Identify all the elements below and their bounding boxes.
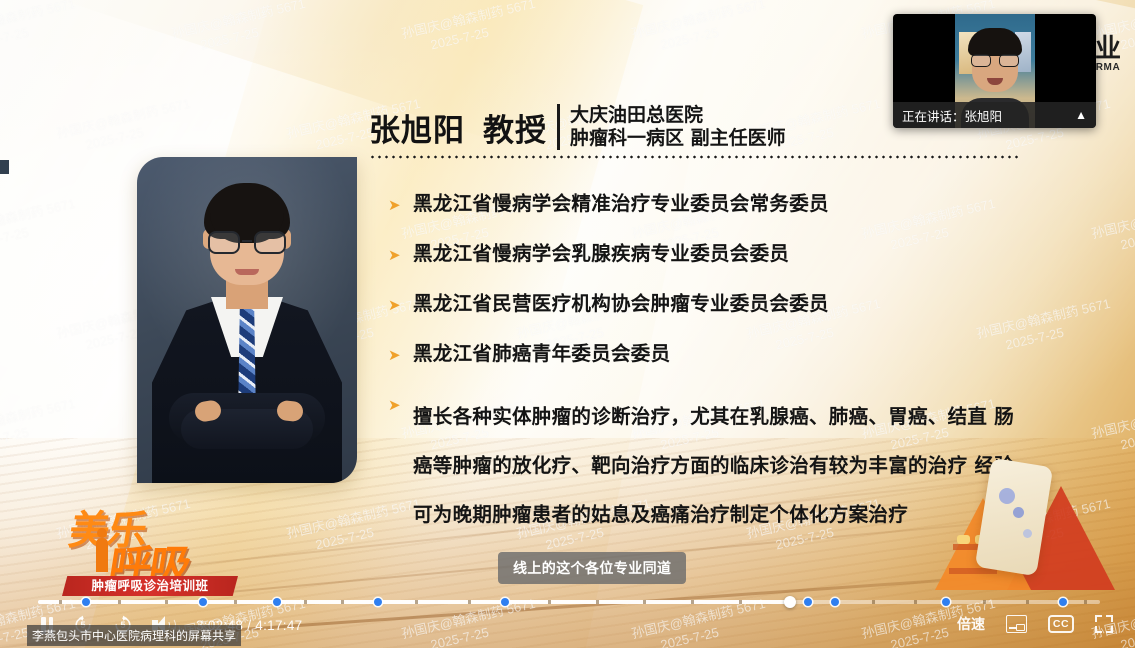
- glasses-lens-left: [208, 231, 240, 254]
- specialty-line: 擅长各种实体肿瘤的诊断治疗，尤其在乳腺癌、肺癌、胃癌、结直 肠: [413, 392, 1034, 441]
- progress-bar[interactable]: [38, 597, 1100, 607]
- chapter-marker[interactable]: [501, 598, 509, 606]
- progress-segment-gap: [59, 600, 62, 604]
- chapter-marker[interactable]: [273, 598, 281, 606]
- progress-segment-gap: [304, 600, 307, 604]
- active-speaker-label: 正在讲话：张旭阳: [902, 106, 1002, 125]
- credential-item: ➤黑龙江省民营医疗机构协会肿瘤专业委员会委员: [388, 292, 1078, 316]
- bullet-arrow-icon: ➤: [388, 349, 404, 363]
- progress-segment-gap: [234, 600, 237, 604]
- progress-segment-gap: [118, 600, 121, 604]
- chapter-marker[interactable]: [1059, 598, 1067, 606]
- affiliation-line-2: 肿瘤科一病区 副主任医师: [570, 127, 786, 150]
- portrait-glasses: [205, 231, 289, 255]
- chapter-marker[interactable]: [942, 598, 950, 606]
- player-right-controls: 倍速 CC: [957, 614, 1113, 634]
- speaker-title-block: 张旭阳 教授 大庆油田总医院 肿瘤科一病区 副主任医师: [369, 104, 786, 150]
- chapter-marker[interactable]: [199, 598, 207, 606]
- fullscreen-icon: [1095, 615, 1113, 633]
- glasses-bridge: [242, 240, 252, 242]
- credential-item: ➤黑龙江省慢病学会精准治疗专业委员会常务委员: [388, 192, 1078, 216]
- fullscreen-button[interactable]: [1095, 615, 1113, 633]
- playback-speed-button[interactable]: 倍速: [957, 614, 985, 634]
- title-divider: [557, 104, 560, 150]
- progress-segment-gap: [165, 600, 168, 604]
- screen-share-viewer: 孙国庆@翰森制药 56712025-7-25孙国庆@翰森制药 56712025-…: [0, 0, 1135, 648]
- progress-segment-gap: [872, 600, 875, 604]
- portrait-mouth: [235, 269, 259, 275]
- speaker-video-thumbnail[interactable]: 正在讲话：张旭阳 ▲: [893, 14, 1096, 128]
- progress-segment-gap: [548, 600, 551, 604]
- closed-captions-button[interactable]: CC: [1048, 615, 1074, 633]
- divider-end-cap: [0, 160, 9, 174]
- progress-played: [38, 600, 790, 604]
- credential-text: 黑龙江省慢病学会乳腺疾病专业委员会委员: [413, 242, 789, 266]
- glasses-lens-right: [254, 231, 286, 254]
- speaker-affiliation: 大庆油田总医院 肿瘤科一病区 副主任医师: [570, 104, 786, 150]
- bullet-arrow-icon: ➤: [388, 299, 404, 313]
- video-person-glasses: [970, 54, 1020, 68]
- credential-text: 黑龙江省慢病学会精准治疗专业委员会常务委员: [413, 192, 829, 216]
- active-speaker-bar[interactable]: 正在讲话：张旭阳 ▲: [893, 102, 1096, 128]
- chapter-marker[interactable]: [804, 598, 812, 606]
- bullet-arrow-icon: ➤: [388, 249, 404, 263]
- progress-segment-gap: [596, 600, 599, 604]
- affiliation-line-1: 大庆油田总医院: [570, 104, 786, 127]
- bullet-arrow-icon: ➤: [388, 399, 404, 413]
- specialty-line: 可为晚期肿瘤患者的姑息及癌痛治疗制定个体化方案治疗: [413, 490, 1034, 539]
- picture-in-picture-icon: [1006, 615, 1027, 633]
- chapter-marker[interactable]: [374, 598, 382, 606]
- bullet-arrow-icon: ➤: [388, 199, 404, 213]
- video-glasses-lens-left: [971, 54, 991, 67]
- screen-share-caption: 李燕包头市中心医院病理科的屏幕共享: [27, 625, 241, 646]
- progress-segment-gap: [1084, 600, 1087, 604]
- progress-segment-gap: [643, 600, 646, 604]
- speech-toast: 线上的这个各位专业同道: [498, 552, 686, 584]
- chevron-up-icon[interactable]: ▲: [1075, 109, 1087, 121]
- chapter-marker[interactable]: [82, 598, 90, 606]
- specialty-line: 癌等肿瘤的放化疗、靶向治疗方面的临床诊治有较为丰富的治疗 经验，: [413, 441, 1034, 490]
- progress-segment-gap: [739, 600, 742, 604]
- progress-segment-gap: [1026, 600, 1029, 604]
- progress-segment-gap: [341, 600, 344, 604]
- chapter-marker[interactable]: [831, 598, 839, 606]
- video-glasses-lens-right: [999, 54, 1019, 67]
- dotted-divider: [369, 155, 1020, 159]
- progress-segment-gap: [983, 600, 986, 604]
- video-person-hair: [968, 28, 1022, 56]
- credential-text: 黑龙江省肺癌青年委员会委员: [413, 342, 670, 366]
- specialty-text: 擅长各种实体肿瘤的诊断治疗，尤其在乳腺癌、肺癌、胃癌、结直 肠癌等肿瘤的放化疗、…: [413, 392, 1034, 539]
- credential-text: 黑龙江省民营医疗机构协会肿瘤专业委员会委员: [413, 292, 829, 316]
- progress-segment-gap: [415, 600, 418, 604]
- specialty-paragraph: ➤擅长各种实体肿瘤的诊断治疗，尤其在乳腺癌、肺癌、胃癌、结直 肠癌等肿瘤的放化疗…: [388, 392, 1078, 539]
- progress-segment-gap: [468, 600, 471, 604]
- progress-playhead[interactable]: [784, 596, 796, 608]
- progress-segment-gap: [914, 600, 917, 604]
- speaker-name: 张旭阳: [369, 105, 465, 150]
- picture-in-picture-button[interactable]: [1006, 615, 1027, 633]
- presenter-portrait: [137, 157, 357, 483]
- credentials-list: ➤黑龙江省慢病学会精准治疗专业委员会常务委员➤黑龙江省慢病学会乳腺疾病专业委员会…: [388, 192, 1078, 565]
- credential-item: ➤黑龙江省慢病学会乳腺疾病专业委员会委员: [388, 242, 1078, 266]
- speaker-academic-title: 教授: [483, 105, 547, 150]
- progress-segment-gap: [691, 600, 694, 604]
- progress-track[interactable]: [38, 600, 1100, 604]
- credential-item: ➤黑龙江省肺癌青年委员会委员: [388, 342, 1078, 366]
